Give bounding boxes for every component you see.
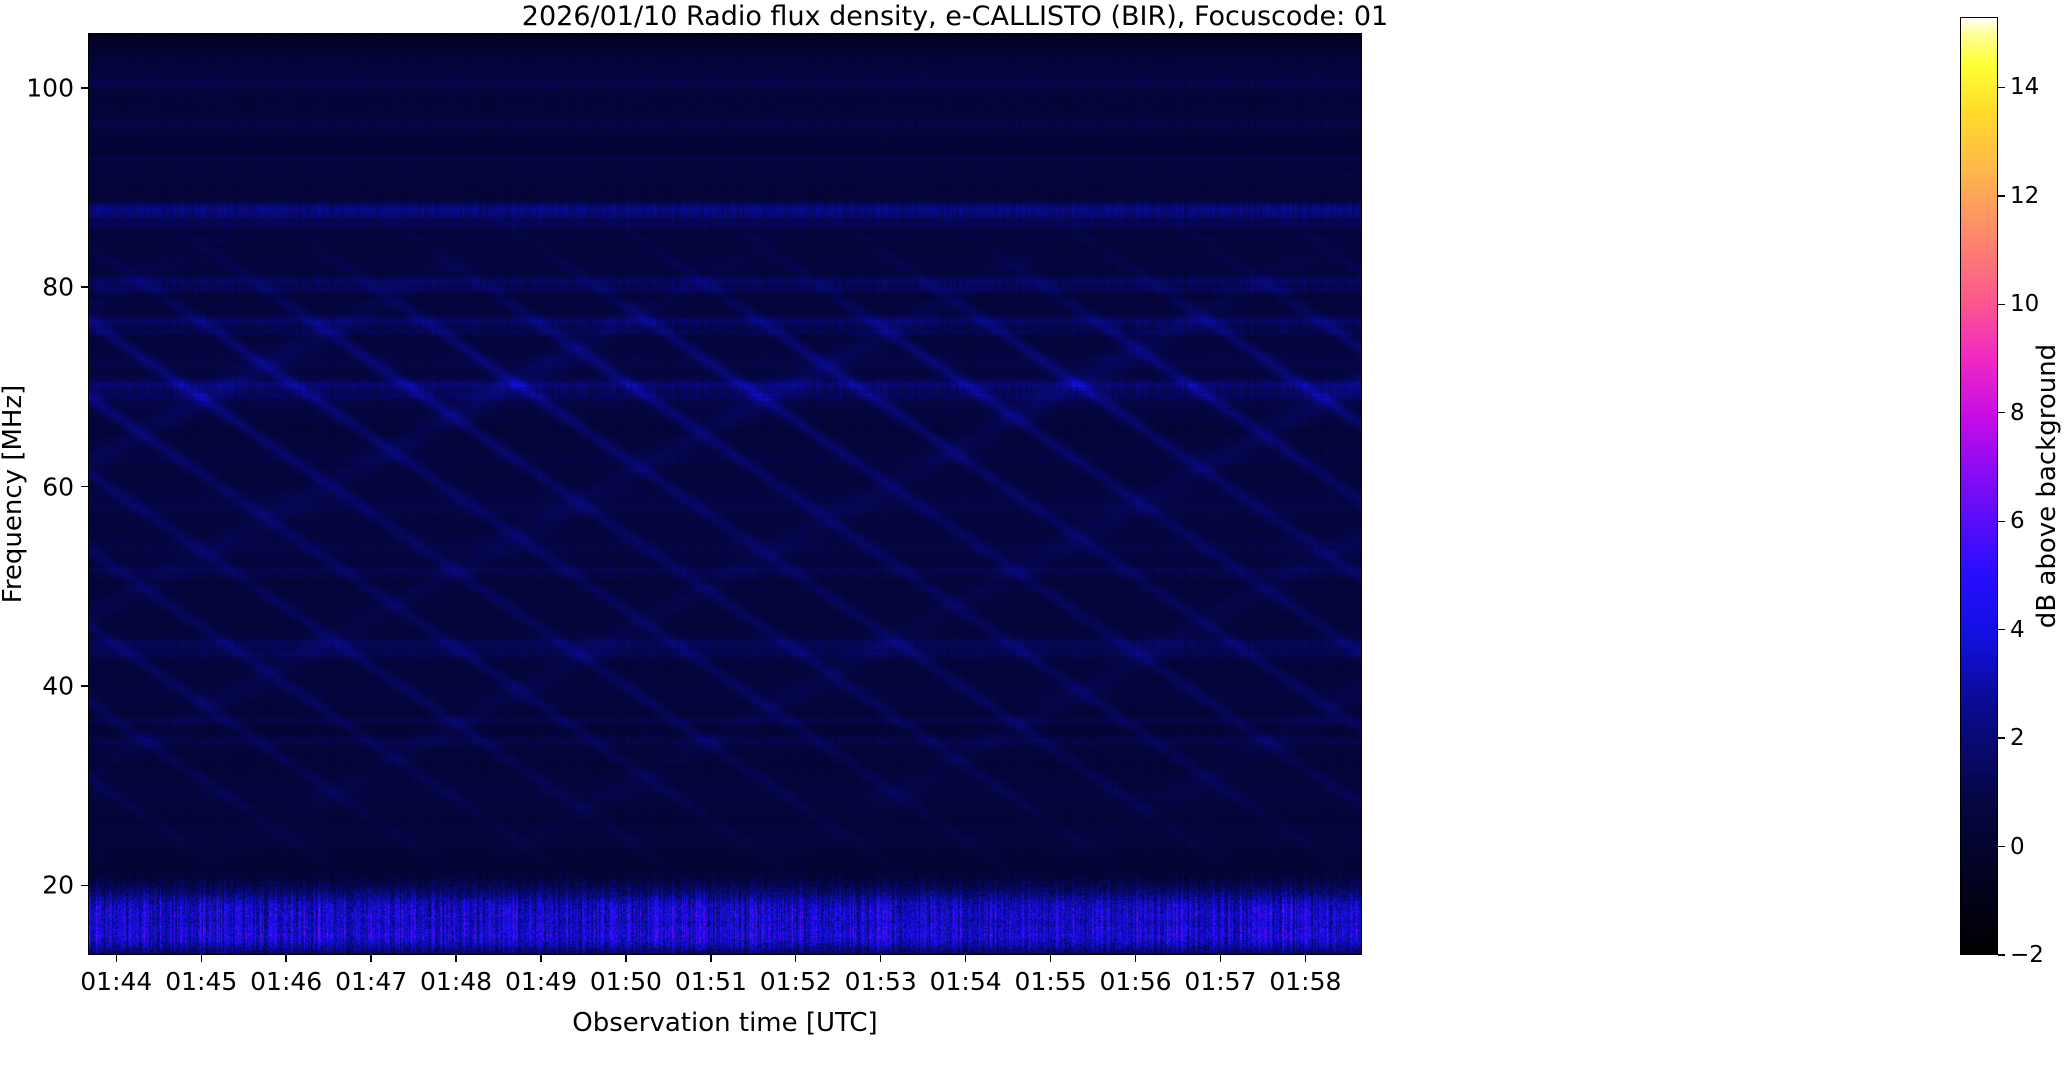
x-tick-label: 01:50: [590, 967, 662, 996]
x-tick-label: 01:55: [1015, 967, 1087, 996]
y-tick-label: 60: [2, 472, 74, 501]
x-tick-mark: [1050, 955, 1051, 962]
colorbar-label-text: dB above background: [2032, 344, 2062, 628]
colorbar-gradient: [1961, 18, 1997, 954]
spectrogram-axes[interactable]: [88, 33, 1362, 955]
x-tick-label: 01:44: [80, 967, 152, 996]
x-tick-label: 01:52: [760, 967, 832, 996]
colorbar-tick-label: 2: [2010, 725, 2025, 751]
x-tick-mark: [965, 955, 966, 962]
x-tick-label: 01:57: [1184, 967, 1256, 996]
colorbar-tick-mark: [1998, 629, 2005, 630]
x-tick-mark: [1135, 955, 1136, 962]
colorbar-tick-mark: [1998, 737, 2005, 738]
x-tick-mark: [116, 955, 117, 962]
colorbar-tick-label: 4: [2010, 617, 2025, 643]
x-tick-label: 01:49: [505, 967, 577, 996]
x-tick-label: 01:45: [165, 967, 237, 996]
figure-canvas: 2026/01/10 Radio flux density, e-CALLIST…: [0, 0, 2066, 1067]
x-tick-mark: [285, 955, 286, 962]
x-tick-mark: [201, 955, 202, 962]
x-tick-label: 01:53: [845, 967, 917, 996]
x-tick-label: 01:48: [420, 967, 492, 996]
x-tick-mark: [795, 955, 796, 962]
y-tick-mark: [81, 885, 88, 886]
x-tick-mark: [710, 955, 711, 962]
x-tick-label: 01:51: [675, 967, 747, 996]
y-tick-mark: [81, 685, 88, 686]
x-tick-mark: [880, 955, 881, 962]
colorbar-tick-mark: [1998, 87, 2005, 88]
spectrogram-image: [89, 34, 1361, 954]
x-tick-label: 01:56: [1099, 967, 1171, 996]
x-axis-label: Observation time [UTC]: [88, 1008, 1362, 1038]
colorbar-tick-mark: [1998, 954, 2005, 955]
colorbar-tick-mark: [1998, 846, 2005, 847]
y-tick-mark: [81, 286, 88, 287]
spectrogram-bitmap: [89, 34, 1361, 954]
x-tick-mark: [540, 955, 541, 962]
colorbar-tick-label: 6: [2010, 508, 2025, 534]
colorbar-tick-mark: [1998, 521, 2005, 522]
colorbar-label: dB above background: [2030, 17, 2064, 955]
x-tick-mark: [1305, 955, 1306, 962]
colorbar-tick-label: 8: [2010, 400, 2025, 426]
x-tick-label: 01:58: [1269, 967, 1341, 996]
y-tick-label: 20: [2, 871, 74, 900]
y-tick-label: 100: [2, 73, 74, 102]
colorbar-tick-mark: [1998, 412, 2005, 413]
y-tick-label: 40: [2, 671, 74, 700]
x-tick-label: 01:54: [930, 967, 1002, 996]
x-tick-label: 01:46: [250, 967, 322, 996]
x-tick-mark: [370, 955, 371, 962]
colorbar[interactable]: [1960, 17, 1998, 955]
colorbar-tick-mark: [1998, 195, 2005, 196]
page-title: 2026/01/10 Radio flux density, e-CALLIST…: [88, 2, 1822, 32]
x-tick-mark: [625, 955, 626, 962]
x-tick-mark: [1220, 955, 1221, 962]
colorbar-tick-label: 0: [2010, 834, 2025, 860]
y-tick-label: 80: [2, 273, 74, 302]
y-tick-mark: [81, 87, 88, 88]
colorbar-tick-mark: [1998, 304, 2005, 305]
x-tick-label: 01:47: [335, 967, 407, 996]
x-tick-mark: [455, 955, 456, 962]
y-tick-mark: [81, 486, 88, 487]
